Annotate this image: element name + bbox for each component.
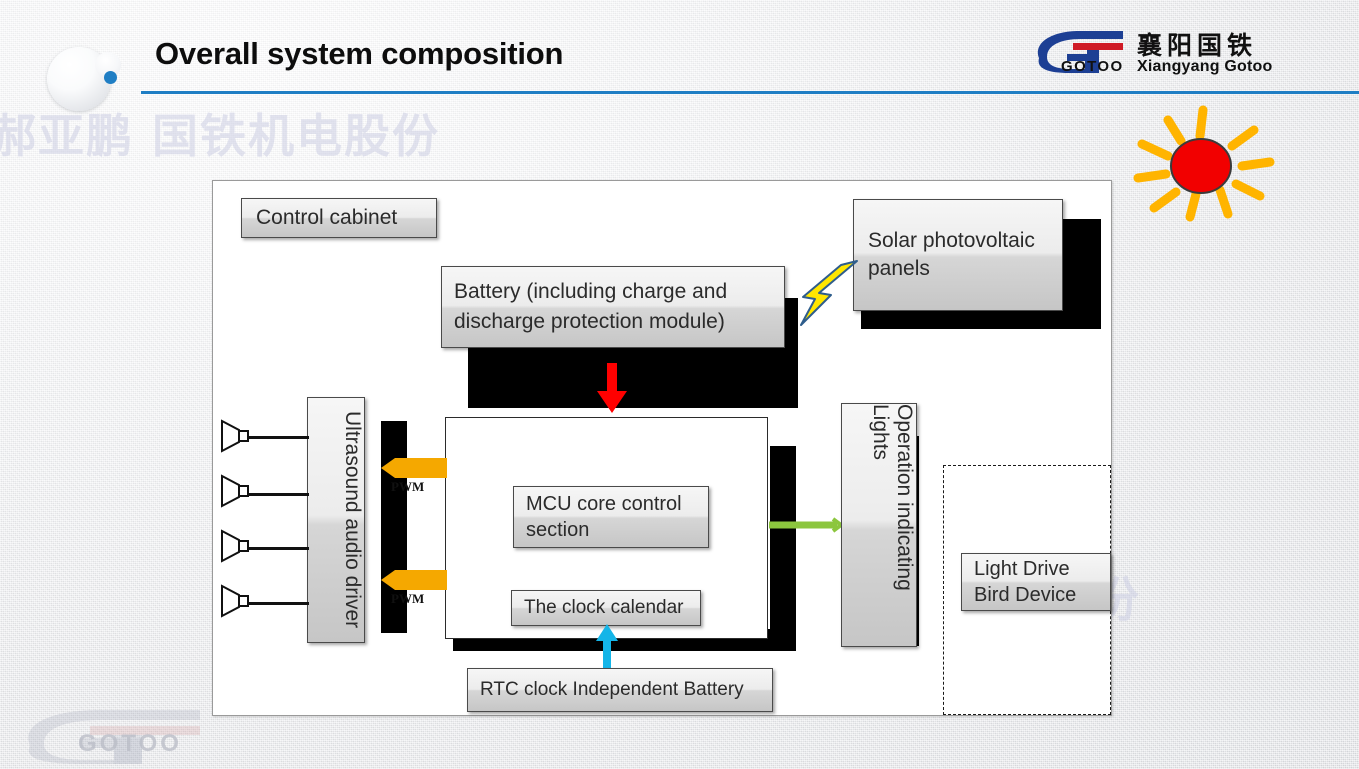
- block-ultrasound-driver[interactable]: Ultrasound audio driver: [307, 397, 365, 643]
- speaker-wire: [247, 547, 309, 550]
- decorative-blue-dot: [104, 71, 117, 84]
- title-underline-rule: [141, 91, 1359, 94]
- block-light-drive-bird-label: Light Drive Bird Device: [974, 556, 1098, 608]
- speaker-wire: [247, 493, 309, 496]
- logo-brand-mark: GOTOO: [1061, 58, 1124, 75]
- company-logo: GOTOO 襄阳国铁 Xiangyang Gotoo: [1027, 28, 1297, 84]
- power-arrow-down: [595, 363, 629, 415]
- block-operation-lights-label: Operation indicating Lights: [842, 404, 916, 646]
- pwm-label-bottom: PWM: [391, 591, 424, 607]
- block-battery[interactable]: Battery (including charge and discharge …: [441, 266, 785, 348]
- pwm-label-top: PWM: [391, 479, 424, 495]
- shadow-block-mcu-right: [770, 446, 796, 651]
- block-mcu-core-label: MCU core control section: [526, 491, 696, 543]
- block-clock-calendar-label: The clock calendar: [524, 597, 688, 619]
- block-operation-lights[interactable]: Operation indicating Lights: [841, 403, 917, 647]
- speaker-icon: [219, 584, 251, 618]
- block-ultrasound-driver-label: Ultrasound audio driver: [308, 411, 364, 628]
- speaker-wire: [247, 436, 309, 439]
- watermark-text: 郝亚鹏 国铁机电股份: [0, 100, 440, 166]
- block-solar-panels[interactable]: Solar photovoltaic panels: [853, 199, 1063, 311]
- logo-english-name: Xiangyang Gotoo: [1137, 58, 1272, 76]
- lightning-bolt-icon: [785, 259, 861, 329]
- block-mcu-core[interactable]: MCU core control section: [513, 486, 709, 548]
- speaker-icon: [219, 474, 251, 508]
- block-light-drive-bird[interactable]: Light Drive Bird Device: [961, 553, 1111, 611]
- slide-canvas: Overall system composition 郝亚鹏 国铁机电股份 郝亚…: [0, 0, 1359, 769]
- block-control-cabinet-label: Control cabinet: [256, 206, 422, 230]
- block-clock-calendar[interactable]: The clock calendar: [511, 590, 701, 626]
- logo-chinese-name: 襄阳国铁: [1137, 26, 1257, 62]
- pwm-arrow-top: [381, 457, 447, 479]
- speaker-icon: [219, 529, 251, 563]
- speaker-wire: [247, 602, 309, 605]
- block-control-cabinet[interactable]: Control cabinet: [241, 198, 437, 238]
- block-solar-panels-label: Solar photovoltaic panels: [868, 227, 1048, 283]
- pwm-arrow-bottom: [381, 569, 447, 591]
- footer-logo-text: GOTOO: [78, 730, 182, 758]
- indicator-arrow-right: [769, 517, 843, 533]
- block-rtc-battery-label: RTC clock Independent Battery: [480, 679, 760, 701]
- block-battery-label: Battery (including charge and discharge …: [454, 277, 772, 337]
- sun-icon: [1128, 104, 1278, 220]
- block-rtc-battery[interactable]: RTC clock Independent Battery: [467, 668, 773, 712]
- page-title: Overall system composition: [155, 36, 563, 72]
- system-diagram: Control cabinet Solar photovoltaic panel…: [212, 180, 1112, 716]
